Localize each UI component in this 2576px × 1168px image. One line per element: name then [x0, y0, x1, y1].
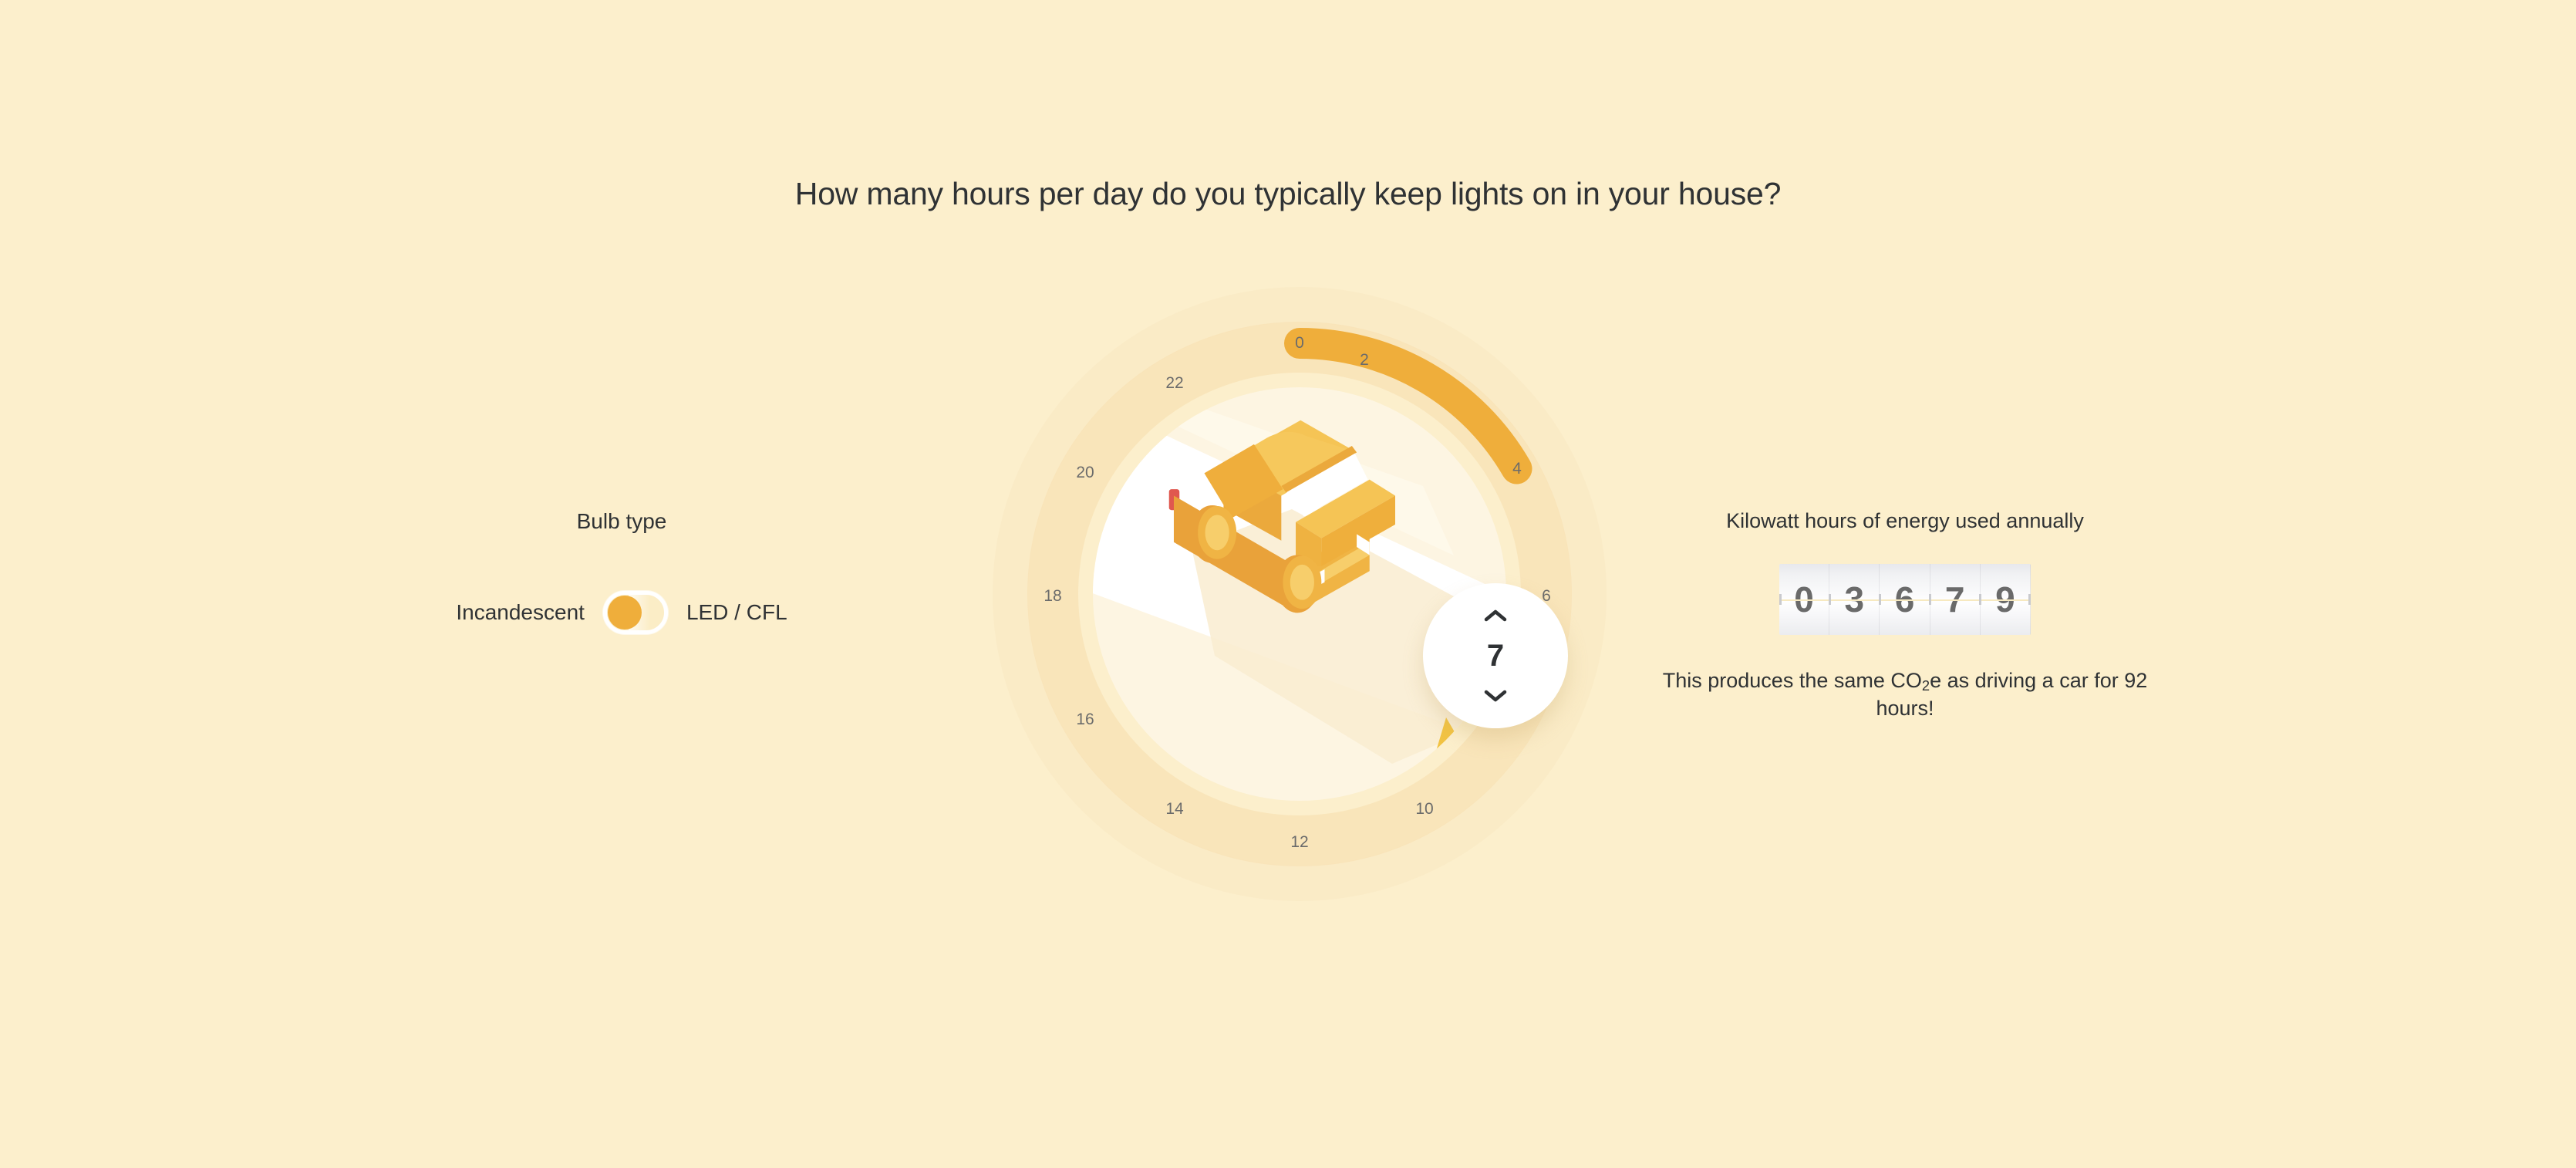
dial-tick-20: 20 [1076, 464, 1094, 482]
bulb-type-toggle[interactable] [603, 591, 668, 634]
dial-tick-4: 4 [1512, 460, 1522, 478]
chevron-up-icon[interactable] [1482, 608, 1509, 623]
dial-tick-0: 0 [1295, 334, 1304, 353]
co2-equivalent-note: This produces the same CO2e as driving a… [1650, 667, 2160, 723]
chevron-down-icon[interactable] [1482, 688, 1509, 704]
dial-tick-10: 10 [1415, 800, 1433, 819]
co2-note-subscript: 2 [1922, 677, 1930, 694]
dial-knob[interactable]: 7 [1423, 583, 1568, 728]
bulb-type-panel: Bulb type Incandescent LED / CFL [460, 509, 784, 634]
kwh-odometer: 0 3 6 7 9 [1779, 564, 2031, 635]
dial-graphic [960, 255, 1639, 933]
dial-value: 7 [1487, 639, 1504, 673]
dial-tick-2: 2 [1360, 351, 1369, 370]
toggle-option-incandescent[interactable]: Incandescent [456, 600, 585, 625]
page-title: How many hours per day do you typically … [0, 176, 2576, 212]
odometer-digit: 9 [1981, 564, 2031, 635]
dial-tick-16: 16 [1076, 711, 1094, 729]
odometer-digit: 6 [1880, 564, 1930, 635]
co2-note-prefix: This produces the same CO [1663, 669, 1922, 692]
toggle-knob[interactable] [608, 596, 642, 630]
bulb-toggle-row: Incandescent LED / CFL [460, 591, 784, 634]
dial-tick-12: 12 [1290, 833, 1308, 852]
hours-dial[interactable]: 0 2 4 6 8 10 12 14 16 18 20 22 [960, 255, 1639, 933]
kwh-label: Kilowatt hours of energy used annually [1650, 509, 2160, 533]
dial-tick-18: 18 [1044, 587, 1061, 606]
dial-tick-22: 22 [1165, 374, 1183, 393]
odometer-digit: 0 [1779, 564, 1829, 635]
odometer-digit: 7 [1930, 564, 1981, 635]
result-panel: Kilowatt hours of energy used annually 0… [1650, 509, 2160, 723]
dial-tick-14: 14 [1165, 800, 1183, 819]
odometer-digit: 3 [1829, 564, 1880, 635]
toggle-option-led-cfl[interactable]: LED / CFL [686, 600, 787, 625]
bulb-type-label: Bulb type [460, 509, 784, 534]
